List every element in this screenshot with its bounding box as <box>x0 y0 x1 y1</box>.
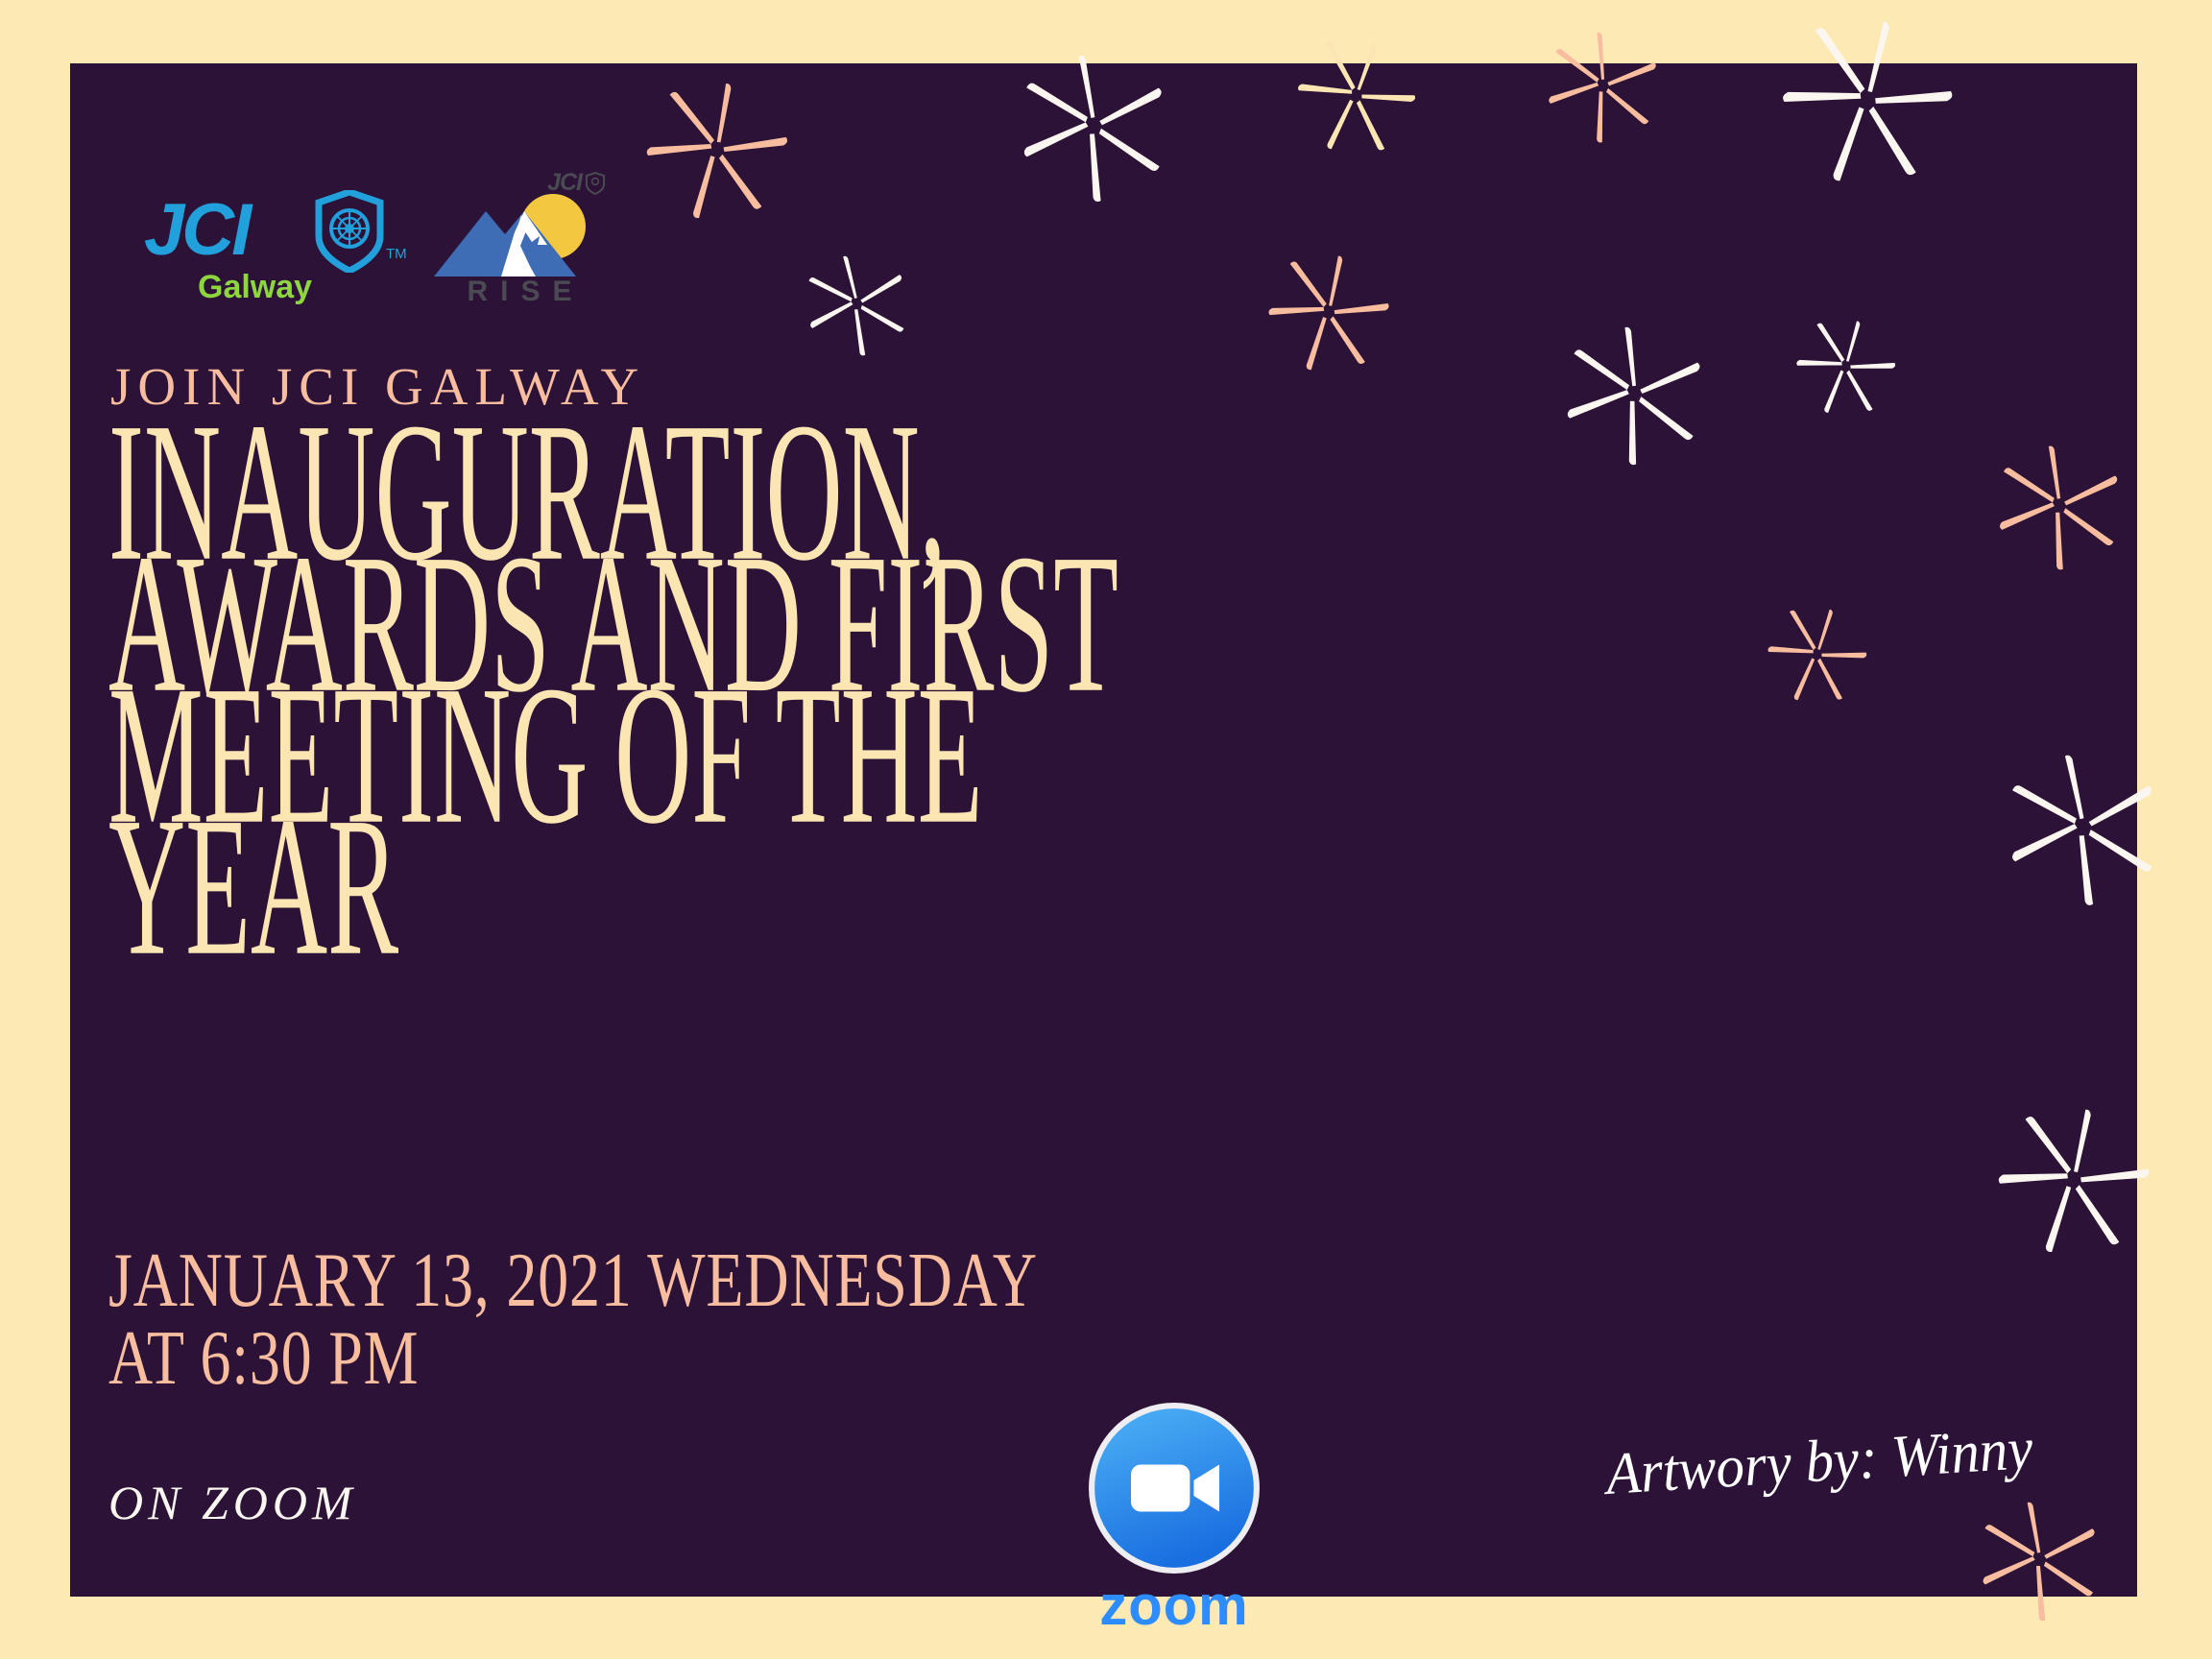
headline-line-4: YEAR <box>108 821 973 954</box>
zoom-logo: zoom <box>1088 1402 1261 1635</box>
artist-credit: Artwory by: Winny <box>1604 1417 2034 1506</box>
rise-wordmark: RISE <box>432 276 607 308</box>
event-poster: JCI TM Galway <box>0 0 2212 1659</box>
jci-wordmark: JCI <box>144 194 249 267</box>
zoom-wordmark: zoom <box>1088 1577 1261 1635</box>
platform-label: ON ZOOM <box>108 1475 357 1530</box>
event-time: AT 6:30 PM <box>108 1327 1038 1391</box>
page-title: INAUGURATION, AWARDS AND FIRST MEETING O… <box>108 426 1549 952</box>
event-datetime: JANUARY 13, 2021 WEDNESDAY AT 6:30 PM <box>108 1249 1270 1405</box>
jci-shield-icon <box>315 190 384 273</box>
jci-trademark: TM <box>386 246 407 262</box>
jci-galway-logo: JCI TM Galway <box>144 169 403 308</box>
rise-mountain-icon <box>432 192 607 278</box>
jci-chapter-name: Galway <box>198 269 312 305</box>
poster-content: JCI TM Galway <box>70 63 2137 1597</box>
event-date: JANUARY 13, 2021 WEDNESDAY <box>108 1249 1038 1313</box>
rise-shield-icon <box>586 172 605 195</box>
rise-logo: JCI RISE <box>432 169 607 308</box>
logo-row: JCI TM Galway <box>144 169 607 308</box>
